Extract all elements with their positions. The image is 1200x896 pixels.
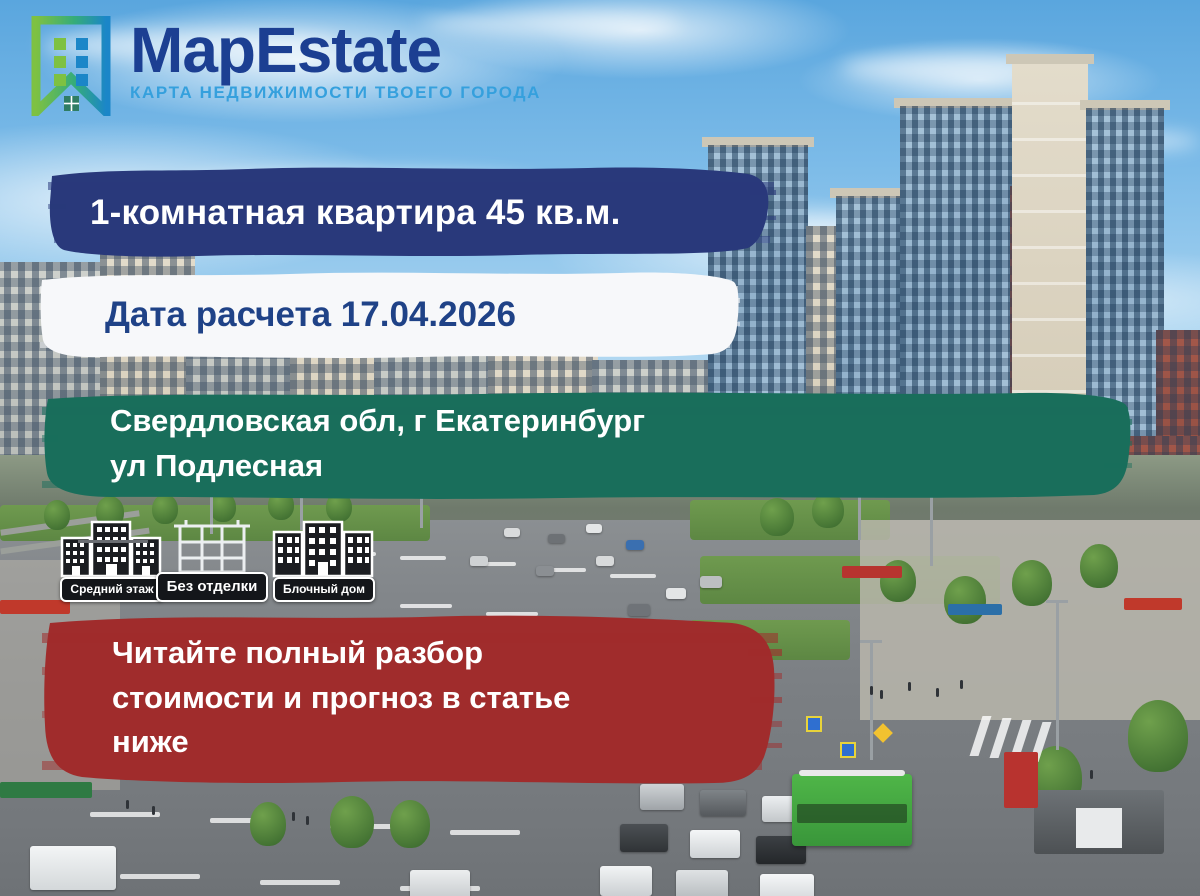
date-text: Дата расчета 17.04.2026 xyxy=(105,295,740,335)
cta-line-3: ниже xyxy=(112,720,782,765)
address-line-1: Свердловская обл, г Екатеринбург xyxy=(110,399,1132,444)
brand-tagline: КАРТА НЕДВИЖИМОСТИ ТВОЕГО ГОРОДА xyxy=(130,83,541,103)
feature-badges: Средний этаж Без отделки xyxy=(48,512,388,602)
date-banner: Дата расчета 17.04.2026 xyxy=(40,262,740,367)
cta-banner[interactable]: Читайте полный разбор стоимости и прогно… xyxy=(42,607,782,789)
city-bus xyxy=(792,774,912,846)
address-line-2: ул Подлесная xyxy=(110,444,1132,489)
block-house-icon xyxy=(268,516,380,580)
unfinished-building-icon xyxy=(160,516,264,580)
brand-logo[interactable]: MapEstate КАРТА НЕДВИЖИМОСТИ ТВОЕГО ГОРО… xyxy=(30,16,541,116)
feature-label: Средний этаж xyxy=(60,577,163,602)
feature-house-type: Блочный дом xyxy=(260,577,388,602)
cta-line-1: Читайте полный разбор xyxy=(112,631,782,676)
title-banner: 1-комнатная квартира 45 кв.м. xyxy=(48,160,778,265)
promo-poster: MapEstate КАРТА НЕДВИЖИМОСТИ ТВОЕГО ГОРО… xyxy=(0,0,1200,896)
brand-name: MapEstate xyxy=(130,20,541,81)
bookmark-building-icon xyxy=(30,16,112,116)
cta-line-2: стоимости и прогноз в статье xyxy=(112,676,782,721)
feature-label: Без отделки xyxy=(156,572,269,602)
mid-floor-building-icon xyxy=(58,516,166,580)
title-text: 1-комнатная квартира 45 кв.м. xyxy=(90,193,778,233)
feature-finish: Без отделки xyxy=(152,572,272,602)
address-banner: Свердловская обл, г Екатеринбург ул Подл… xyxy=(42,385,1132,503)
feature-label: Блочный дом xyxy=(273,577,375,602)
